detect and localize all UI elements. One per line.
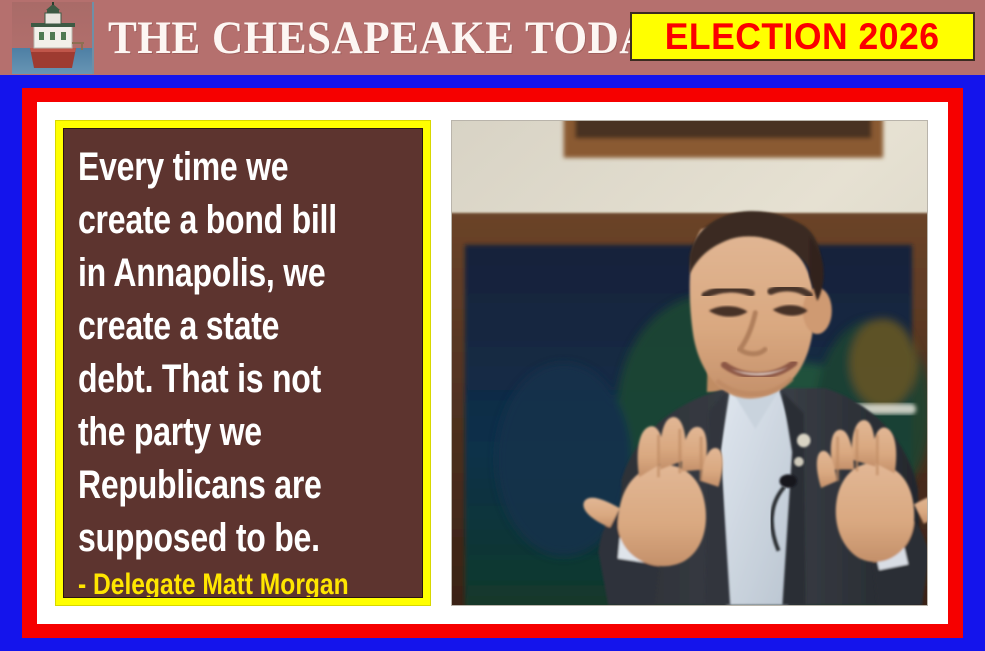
person-speaking-photo [452, 121, 927, 605]
quote-card-body: Every time we create a bond bill in Anna… [63, 128, 423, 598]
masthead: THE CHESAPEAKE TODAY ELECTION 2026 [0, 0, 985, 75]
quote-card: Every time we create a bond bill in Anna… [55, 120, 431, 606]
subject-photo [451, 120, 928, 606]
content-area: Every time we create a bond bill in Anna… [37, 102, 948, 624]
lighthouse-icon [12, 2, 94, 74]
quote-attribution: - Delegate Matt Morgan [78, 567, 408, 598]
election-badge[interactable]: ELECTION 2026 [630, 12, 975, 61]
election-badge-label: ELECTION 2026 [665, 18, 940, 56]
inner-white-matte: Every time we create a bond bill in Anna… [37, 102, 948, 624]
middle-red-border: Every time we create a bond bill in Anna… [22, 88, 963, 638]
quote-text: Every time we create a bond bill in Anna… [78, 141, 408, 565]
lighthouse-logo [12, 2, 94, 74]
newspaper-graphic: THE CHESAPEAKE TODAY ELECTION 2026 Every… [0, 0, 985, 651]
outer-blue-border: Every time we create a bond bill in Anna… [0, 75, 985, 651]
page-title: THE CHESAPEAKE TODAY [108, 13, 679, 63]
